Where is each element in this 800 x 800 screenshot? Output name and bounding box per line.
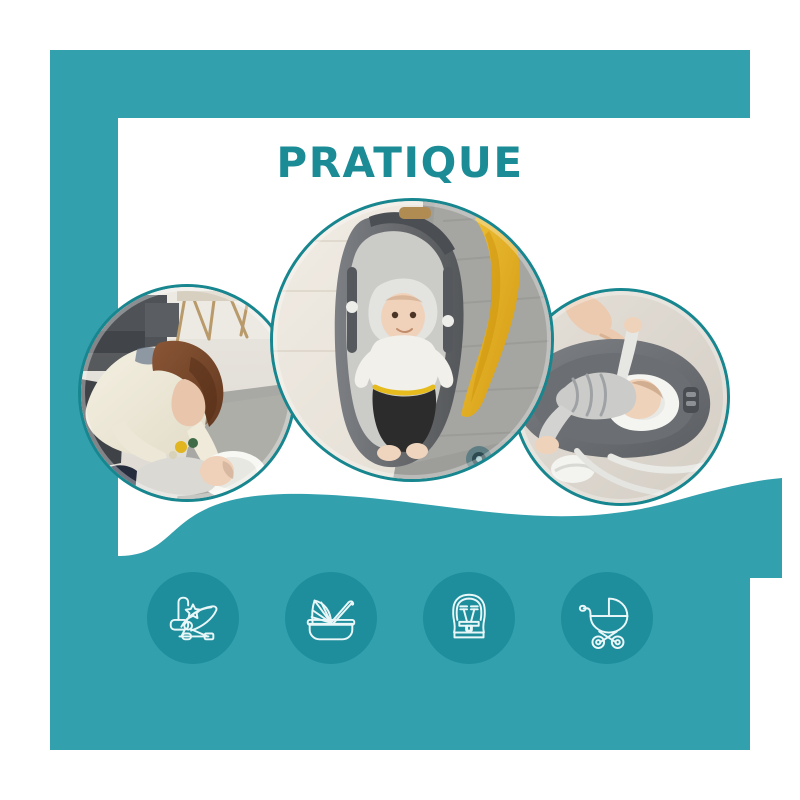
photo-left-image xyxy=(81,287,293,499)
page-title: PRATIQUE xyxy=(68,138,732,187)
photo-left xyxy=(78,284,296,502)
icon-carrycot-circle[interactable] xyxy=(285,572,377,664)
baby-bouncer-icon xyxy=(162,587,224,649)
icon-bouncer-circle[interactable] xyxy=(147,572,239,664)
icon-pram-circle[interactable] xyxy=(561,572,653,664)
photo-center-image xyxy=(273,201,551,479)
feature-icon-row xyxy=(68,560,732,675)
carrycot-icon xyxy=(300,587,362,649)
icon-carseat-circle[interactable] xyxy=(423,572,515,664)
product-feature-banner: PRATIQUE xyxy=(0,0,800,800)
car-seat-icon xyxy=(438,587,500,649)
pram-icon xyxy=(576,587,638,649)
photo-center xyxy=(270,198,554,482)
